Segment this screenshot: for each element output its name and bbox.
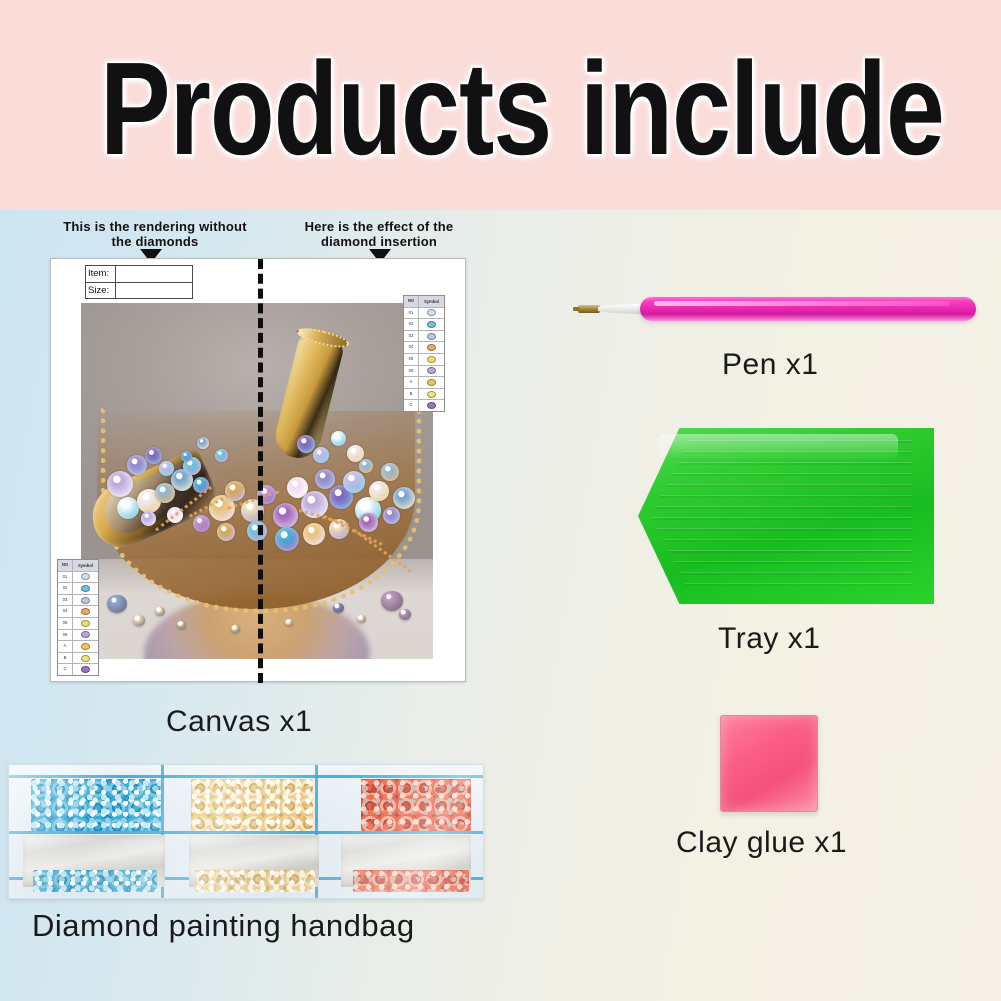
product-include-infographic: Products include This is the rendering w… (0, 0, 1001, 1001)
artwork-jewel-flower (313, 447, 329, 463)
artwork-jewel-flower (127, 455, 147, 475)
legend-row-no: 01 (58, 572, 73, 583)
artwork-jewel-flower (275, 527, 299, 551)
legend-swatch (81, 631, 90, 638)
legend-row-symbol (419, 400, 444, 411)
artwork-jewel-flower (369, 481, 389, 501)
legend-row-symbol (73, 630, 98, 641)
legend-swatch (81, 585, 90, 592)
pen-metal-tip (578, 305, 600, 313)
item-field-row: Item: (86, 266, 192, 283)
size-field-value (116, 283, 192, 299)
legend-header-no: NO (58, 560, 73, 571)
handbag-bottom-blue (33, 870, 157, 892)
artwork-jewel-flower (297, 435, 315, 453)
artwork-jewel-flower (193, 515, 210, 532)
legend-row-symbol (419, 342, 444, 353)
clay-glue-caption: Clay glue x1 (676, 826, 847, 860)
artwork-jewel-flower (141, 511, 156, 526)
legend-row: 02 (58, 583, 98, 595)
legend-row-symbol (73, 664, 98, 675)
legend-header-row: NO Symbol (404, 296, 444, 308)
artwork-jewel-flower (359, 459, 373, 473)
handbag-caption: Diamond painting handbag (32, 908, 415, 944)
legend-swatch (427, 367, 436, 374)
split-divider (258, 259, 263, 683)
artwork-jewel-flower (247, 521, 267, 541)
legend-swatch (81, 666, 90, 673)
annotation-left-text: This is the rendering without the diamon… (60, 220, 250, 249)
legend-swatch (427, 379, 436, 386)
canvas-preview: Item: Size: NO Symbol (50, 258, 466, 682)
legend-row-symbol (419, 389, 444, 400)
legend-row: 05 (404, 354, 444, 366)
legend-row-no: 01 (404, 308, 419, 319)
legend-row-symbol (73, 606, 98, 617)
legend-row-no: A (58, 641, 73, 652)
artwork-jewel-flower (343, 471, 365, 493)
handbag-compartment-red (361, 779, 471, 831)
legend-header-row: NO Symbol (58, 560, 98, 572)
page-title: Products include (100, 44, 901, 174)
legend-swatch (427, 356, 436, 363)
artwork-jewel-flower (197, 437, 209, 449)
legend-swatch (81, 655, 90, 662)
bag-seam-top (9, 775, 483, 778)
artwork-jewel-flower (215, 449, 228, 462)
legend-row-symbol (73, 618, 98, 629)
artwork-jewel-flower (331, 431, 346, 446)
legend-row-no: A (404, 377, 419, 388)
legend-row: 05 (58, 618, 98, 630)
legend-header-symbol: Symbol (419, 296, 444, 307)
legend-row: 01 (404, 308, 444, 320)
legend-row-no: C (58, 664, 73, 675)
artwork-jewel-flower (383, 507, 400, 524)
artwork-jewel-flower (381, 463, 399, 481)
pen-barrel (640, 297, 976, 321)
legend-row-symbol (419, 319, 444, 330)
legend-header-symbol: Symbol (73, 560, 98, 571)
crescent-bouquet (97, 411, 415, 611)
artwork-image (81, 303, 433, 659)
legend-row-no: 06 (58, 630, 73, 641)
color-legend-top-right: NO Symbol 01 02 03 04 05 06 A B C (403, 295, 445, 412)
legend-swatch (427, 309, 436, 316)
legend-swatch (427, 321, 436, 328)
size-field-label: Size: (86, 283, 116, 299)
legend-row-symbol (73, 572, 98, 583)
legend-swatch (81, 643, 90, 650)
legend-row-symbol (419, 331, 444, 342)
canvas-caption: Canvas x1 (166, 705, 312, 739)
diamond-painting-pen (578, 296, 976, 322)
legend-row-symbol (73, 595, 98, 606)
artwork-loose-gem (133, 615, 145, 626)
legend-row-no: 04 (58, 606, 73, 617)
diamond-tray (638, 428, 934, 604)
legend-header-no: NO (404, 296, 419, 307)
legend-row: C (58, 664, 98, 675)
tray-caption: Tray x1 (718, 622, 820, 656)
artwork-jewel-flower (217, 523, 235, 541)
legend-row-no: 02 (404, 319, 419, 330)
legend-row-no: 04 (404, 342, 419, 353)
pen-caption: Pen x1 (722, 348, 818, 382)
legend-swatch (81, 608, 90, 615)
legend-row: B (58, 653, 98, 665)
legend-row-symbol (419, 354, 444, 365)
legend-swatch (427, 333, 436, 340)
legend-row: A (58, 641, 98, 653)
artwork-jewel-flower (107, 471, 133, 497)
diamond-painting-handbag (8, 764, 484, 899)
artwork-jewel-flower (393, 487, 415, 509)
legend-row-symbol (73, 641, 98, 652)
legend-swatch (81, 573, 90, 580)
legend-row-symbol (73, 653, 98, 664)
legend-swatch (81, 620, 90, 627)
item-field-label: Item: (86, 266, 116, 282)
item-size-fields: Item: Size: (85, 265, 193, 299)
handbag-compartment-blue (31, 779, 161, 831)
color-legend-bottom-left: NO Symbol 01 02 03 04 05 06 A B C (57, 559, 99, 676)
legend-row: B (404, 389, 444, 401)
clay-glue-square (720, 715, 818, 812)
legend-row-no: B (404, 389, 419, 400)
legend-row-no: B (58, 653, 73, 664)
header-banner: Products include (0, 0, 1001, 210)
legend-row-symbol (73, 583, 98, 594)
legend-row-no: 03 (58, 595, 73, 606)
legend-row-no: 02 (58, 583, 73, 594)
legend-row: 03 (404, 331, 444, 343)
legend-swatch (81, 597, 90, 604)
legend-row: 01 (58, 572, 98, 584)
artwork-jewel-flower (117, 497, 139, 519)
bag-seam-mid (9, 831, 483, 834)
artwork-loose-gem (399, 609, 411, 620)
handbag-compartment-gold (191, 779, 313, 831)
legend-row: 02 (404, 319, 444, 331)
legend-row-no: 05 (404, 354, 419, 365)
legend-row-symbol (419, 366, 444, 377)
legend-row: 06 (404, 366, 444, 378)
size-field-row: Size: (86, 283, 192, 299)
legend-row-no: 05 (58, 618, 73, 629)
legend-row-no: C (404, 400, 419, 411)
annotation-right-text: Here is the effect of the diamond insert… (288, 220, 470, 249)
legend-row-no: 03 (404, 331, 419, 342)
legend-swatch (427, 391, 436, 398)
artwork-jewel-flower (359, 513, 378, 532)
legend-row: 06 (58, 630, 98, 642)
handbag-bottom-gold (195, 870, 315, 892)
pen-clear-section (598, 304, 646, 315)
artwork-jewel-flower (303, 523, 325, 545)
artwork-jewel-flower (315, 469, 335, 489)
artwork-jewel-flower (145, 447, 162, 464)
legend-row-no: 06 (404, 366, 419, 377)
legend-row: 03 (58, 595, 98, 607)
artwork-jewel-flower (181, 451, 192, 462)
legend-row: 04 (58, 606, 98, 618)
handbag-bottom-red (353, 870, 469, 892)
legend-row: 04 (404, 342, 444, 354)
legend-row-symbol (419, 377, 444, 388)
legend-row: C (404, 400, 444, 411)
legend-row: A (404, 377, 444, 389)
item-field-value (116, 266, 192, 282)
legend-row-symbol (419, 308, 444, 319)
legend-swatch (427, 344, 436, 351)
legend-swatch (427, 402, 436, 409)
